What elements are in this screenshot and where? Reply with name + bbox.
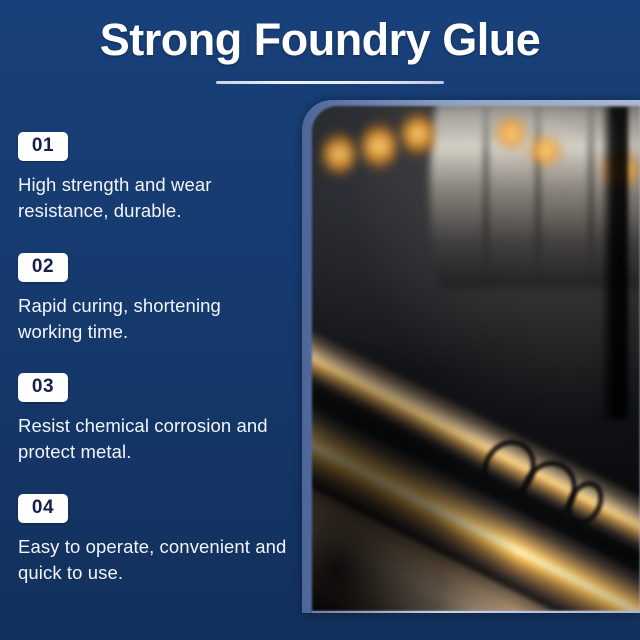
feature-number-badge-03: 03: [18, 373, 68, 402]
feature-item-01: 01 High strength and wear resistance, du…: [18, 132, 290, 225]
product-photo: [312, 106, 640, 611]
title-underline-rule: [216, 81, 444, 84]
page-title-container: Strong Foundry Glue: [0, 16, 640, 63]
feature-text-04: Easy to operate, convenient and quick to…: [18, 534, 290, 587]
feature-text-03: Resist chemical corrosion and protect me…: [18, 413, 290, 466]
feature-text-01: High strength and wear resistance, durab…: [18, 172, 290, 225]
feature-item-04: 04 Easy to operate, convenient and quick…: [18, 494, 290, 587]
feature-number-badge-02: 02: [18, 253, 68, 282]
feature-number-badge-01: 01: [18, 132, 68, 161]
product-photo-panel: [302, 100, 640, 613]
feature-text-02: Rapid curing, shortening working time.: [18, 293, 290, 346]
feature-number-badge-04: 04: [18, 494, 68, 523]
photo-bottom-edge: [312, 611, 640, 613]
page-title: Strong Foundry Glue: [100, 16, 540, 63]
feature-item-03: 03 Resist chemical corrosion and protect…: [18, 373, 290, 466]
feature-item-02: 02 Rapid curing, shortening working time…: [18, 253, 290, 346]
photo-vignette-layer: [312, 106, 640, 611]
product-feature-poster: Strong Foundry Glue: [0, 0, 640, 640]
feature-list: 01 High strength and wear resistance, du…: [18, 132, 290, 586]
